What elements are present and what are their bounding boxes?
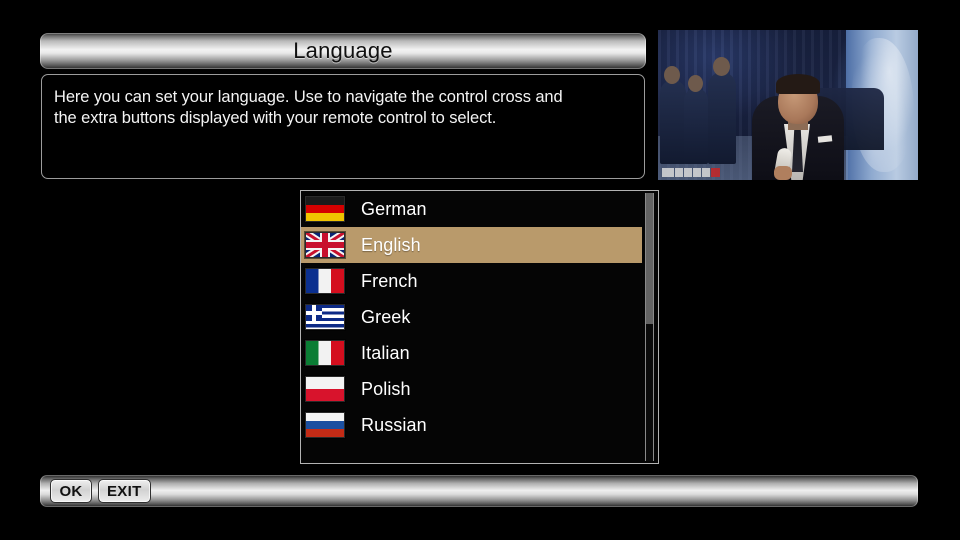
- preview-crowd-head: [713, 57, 730, 76]
- watermark-block: [702, 168, 710, 177]
- watermark-block: [684, 168, 692, 177]
- watermark-block-accent: [711, 168, 720, 177]
- description-text: Here you can set your language. Use to n…: [54, 87, 630, 129]
- flag-russia-icon: [305, 412, 345, 438]
- preview-crowd-figure: [708, 72, 736, 164]
- flag-poland-icon: [305, 376, 345, 402]
- tv-settings-screen: Language Here you can set your language.…: [0, 0, 960, 540]
- language-list-item-label: English: [361, 235, 421, 256]
- action-bar: OKEXIT: [40, 475, 918, 507]
- preview-crowd-figure: [684, 88, 708, 164]
- flag-greece-icon: [305, 304, 345, 330]
- live-tv-preview[interactable]: [658, 30, 918, 180]
- language-list-item-label: Russian: [361, 415, 427, 436]
- page-title-bar: Language: [40, 33, 646, 69]
- exit-button[interactable]: EXIT: [98, 479, 151, 503]
- flag-italy-icon: [305, 340, 345, 366]
- watermark-block: [675, 168, 683, 177]
- language-list-item-label: Polish: [361, 379, 411, 400]
- broadcaster-watermark-icon: [662, 167, 724, 178]
- ok-button[interactable]: OK: [50, 479, 92, 503]
- preview-reporter-hand: [774, 166, 792, 180]
- preview-crowd-figure: [660, 80, 686, 164]
- language-list-item-french[interactable]: French: [301, 263, 642, 299]
- page-title: Language: [293, 38, 392, 64]
- preview-reporter-hair: [776, 74, 820, 94]
- preview-crowd-head: [688, 75, 703, 92]
- language-list-item-polish[interactable]: Polish: [301, 371, 642, 407]
- ok-button-label: OK: [59, 483, 82, 500]
- language-list-item-italian[interactable]: Italian: [301, 335, 642, 371]
- flag-france-icon: [305, 268, 345, 294]
- language-list: GermanEnglishFrenchGreekItalianPolishRus…: [301, 191, 642, 443]
- language-list-panel[interactable]: GermanEnglishFrenchGreekItalianPolishRus…: [300, 190, 659, 464]
- flag-united-kingdom-icon: [305, 232, 345, 258]
- watermark-block: [662, 168, 674, 177]
- flag-germany-icon: [305, 196, 345, 222]
- language-list-item-label: Greek: [361, 307, 411, 328]
- list-scrollbar[interactable]: [645, 193, 654, 461]
- exit-button-label: EXIT: [107, 483, 142, 500]
- language-list-item-greek[interactable]: Greek: [301, 299, 642, 335]
- description-panel: Here you can set your language. Use to n…: [41, 74, 645, 179]
- preview-crowd-head: [664, 66, 680, 84]
- language-list-item-label: Italian: [361, 343, 410, 364]
- list-scrollbar-thumb[interactable]: [646, 193, 653, 324]
- language-list-item-german[interactable]: German: [301, 191, 642, 227]
- language-list-item-label: French: [361, 271, 418, 292]
- language-list-item-label: German: [361, 199, 427, 220]
- language-list-item-russian[interactable]: Russian: [301, 407, 642, 443]
- language-list-item-english[interactable]: English: [301, 227, 642, 263]
- watermark-block: [693, 168, 701, 177]
